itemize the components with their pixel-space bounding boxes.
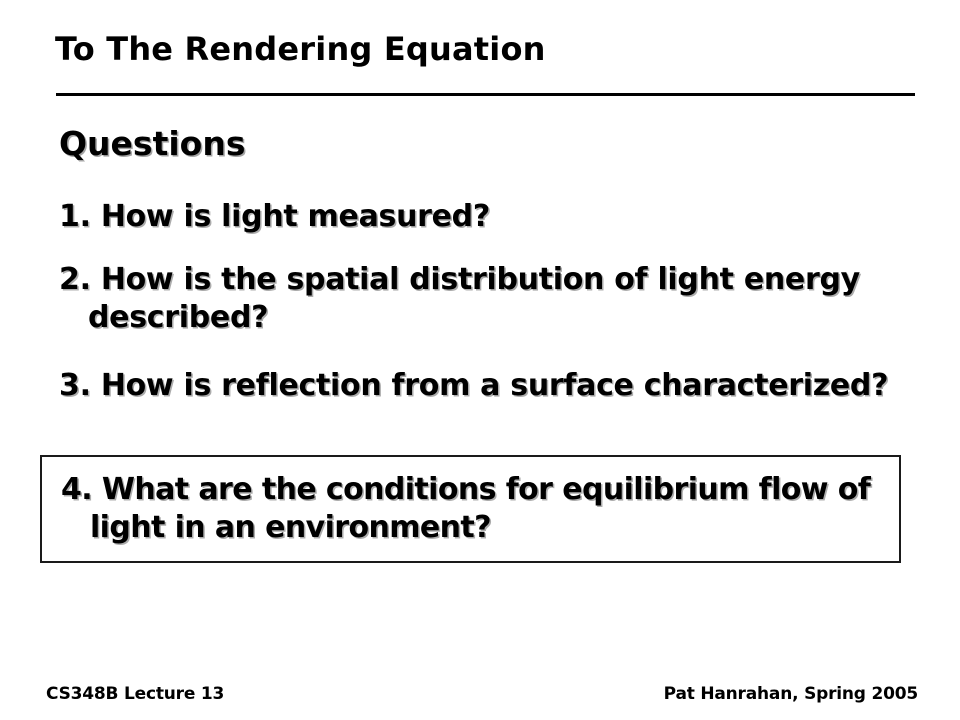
question-item-1: 1. How is light measured? <box>59 198 938 236</box>
title-divider-rule <box>56 93 915 96</box>
highlighted-question-box: 4. What are the conditions for equilibri… <box>40 455 901 563</box>
question-item-4: 4. What are the conditions for equilibri… <box>61 471 920 547</box>
slide-footer: CS348B Lecture 13 Pat Hanrahan, Spring 2… <box>46 683 918 705</box>
question-item-2: 2. How is the spatial distribution of li… <box>59 261 938 337</box>
questions-heading: Questions <box>59 124 245 164</box>
slide-title: To The Rendering Equation <box>55 30 915 68</box>
footer-author-label: Pat Hanrahan, Spring 2005 <box>664 683 918 705</box>
question-item-3: 3. How is reflection from a surface char… <box>59 367 938 405</box>
slide-canvas: To The Rendering Equation Questions 1. H… <box>0 0 960 720</box>
footer-course-label: CS348B Lecture 13 <box>46 683 224 705</box>
